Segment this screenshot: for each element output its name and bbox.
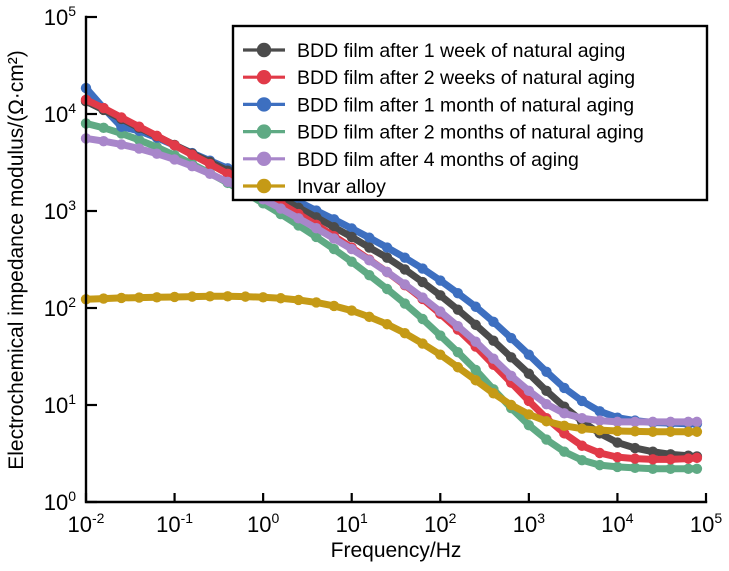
data-point [692, 453, 702, 463]
data-point [453, 347, 463, 357]
data-point [612, 417, 622, 427]
data-point [329, 244, 339, 254]
data-point [541, 434, 551, 444]
data-point [488, 336, 498, 346]
data-point [488, 317, 498, 327]
data-point [453, 305, 463, 315]
legend-label: BDD film after 1 week of natural aging [297, 40, 625, 62]
data-point [400, 264, 410, 274]
data-point [595, 460, 605, 470]
data-point [205, 291, 215, 301]
legend-sample-marker [257, 152, 271, 166]
data-point [116, 112, 126, 122]
data-point [400, 298, 410, 308]
data-point [276, 203, 286, 213]
data-point [116, 293, 126, 303]
data-point [293, 213, 303, 223]
data-point [400, 279, 410, 289]
data-point [612, 452, 622, 462]
data-point [347, 257, 357, 267]
data-point [417, 338, 427, 348]
data-point [648, 417, 658, 427]
legend-label: BDD film after 2 months of natural aging [297, 122, 644, 144]
data-point [470, 320, 480, 330]
data-point [470, 375, 480, 385]
data-point [630, 463, 640, 473]
data-point [506, 371, 516, 381]
data-point [187, 150, 197, 160]
data-point [541, 367, 551, 377]
data-point [595, 415, 605, 425]
y-axis-title-group: Electrochemical impedance modulus/(Ω·cm²… [5, 50, 28, 470]
data-point [630, 443, 640, 453]
data-point [382, 284, 392, 294]
data-point [169, 140, 179, 150]
data-point [577, 455, 587, 465]
data-point [453, 288, 463, 298]
data-point [187, 291, 197, 301]
data-point [506, 333, 516, 343]
data-point [665, 464, 675, 474]
data-point [577, 441, 587, 451]
data-point [347, 305, 357, 315]
data-point [488, 388, 498, 398]
data-point [559, 408, 569, 418]
data-point [506, 400, 516, 410]
data-point [311, 297, 321, 307]
data-point [223, 291, 233, 301]
data-point [559, 383, 569, 393]
data-point [648, 464, 658, 474]
data-point [665, 454, 675, 464]
x-axis-title: Frequency/Hz [331, 539, 462, 562]
data-point [364, 312, 374, 322]
figure-container: 10-210-1100101102103104105 1001011021031… [0, 0, 729, 571]
data-point [382, 267, 392, 277]
legend-label: Invar alloy [297, 176, 386, 198]
data-point [417, 263, 427, 273]
data-point [311, 223, 321, 233]
data-point [595, 406, 605, 416]
data-point [577, 396, 587, 406]
data-point [541, 399, 551, 409]
legend-label: BDD film after 2 weeks of natural aging [297, 67, 635, 89]
data-point [347, 232, 357, 242]
legend-sample-marker [257, 70, 271, 84]
data-point [612, 462, 622, 472]
data-point [692, 417, 702, 427]
data-point [400, 253, 410, 263]
data-point [541, 416, 551, 426]
legend-sample-marker [257, 43, 271, 57]
data-point [524, 420, 534, 430]
legend-label: BDD film after 1 month of natural aging [297, 94, 634, 116]
data-point [417, 314, 427, 324]
data-point [435, 275, 445, 285]
data-point [223, 177, 233, 187]
data-point [417, 277, 427, 287]
data-point [134, 121, 144, 131]
data-point [329, 301, 339, 311]
data-point [665, 427, 675, 437]
data-point [559, 421, 569, 431]
chart-legend: BDD film after 1 week of natural agingBD… [233, 26, 707, 200]
data-point [470, 336, 480, 346]
data-point [559, 447, 569, 457]
data-point [169, 154, 179, 164]
data-point [134, 292, 144, 302]
data-point [364, 270, 374, 280]
legend-sample-marker [257, 179, 271, 193]
y-axis-title: Electrochemical impedance modulus/(Ω·cm²… [5, 50, 28, 470]
data-point [470, 302, 480, 312]
data-point [665, 417, 675, 427]
data-point [417, 292, 427, 302]
data-point [169, 292, 179, 302]
data-point [435, 306, 445, 316]
data-point [98, 136, 108, 146]
data-point [152, 292, 162, 302]
data-point [630, 417, 640, 427]
data-point [258, 292, 268, 302]
data-point [577, 423, 587, 433]
data-point [382, 253, 392, 263]
data-point [364, 255, 374, 265]
data-point [347, 244, 357, 254]
data-point [116, 139, 126, 149]
data-point [276, 293, 286, 303]
impedance-bode-chart: 10-210-1100101102103104105 1001011021031… [0, 0, 729, 571]
data-point [187, 161, 197, 171]
data-point [506, 352, 516, 362]
data-point [435, 330, 445, 340]
data-point [453, 321, 463, 331]
data-point [630, 453, 640, 463]
data-point [98, 123, 108, 133]
data-point [435, 350, 445, 360]
data-point [612, 426, 622, 436]
data-point [595, 425, 605, 435]
data-point [400, 328, 410, 338]
legend-sample-marker [257, 124, 271, 138]
data-point [630, 426, 640, 436]
data-point [98, 103, 108, 113]
data-point [98, 293, 108, 303]
data-point [329, 233, 339, 243]
data-point [152, 131, 162, 141]
data-point [205, 159, 215, 169]
data-point [524, 386, 534, 396]
data-point [595, 448, 605, 458]
data-point [488, 354, 498, 364]
data-point [293, 295, 303, 305]
data-point [648, 427, 658, 437]
data-point [435, 290, 445, 300]
data-point [134, 143, 144, 153]
data-point [524, 409, 534, 419]
data-point [382, 242, 392, 252]
data-point [577, 413, 587, 423]
data-point [541, 386, 551, 396]
data-point [382, 319, 392, 329]
data-point [648, 454, 658, 464]
data-point [205, 169, 215, 179]
data-point [453, 362, 463, 372]
data-point [524, 369, 534, 379]
legend-sample-marker [257, 97, 271, 111]
data-point [524, 350, 534, 360]
data-point [692, 464, 702, 474]
legend-label: BDD film after 4 months of aging [297, 149, 579, 171]
data-point [364, 242, 374, 252]
data-point [152, 148, 162, 158]
data-point [612, 437, 622, 447]
data-point [692, 427, 702, 437]
data-point [240, 291, 250, 301]
